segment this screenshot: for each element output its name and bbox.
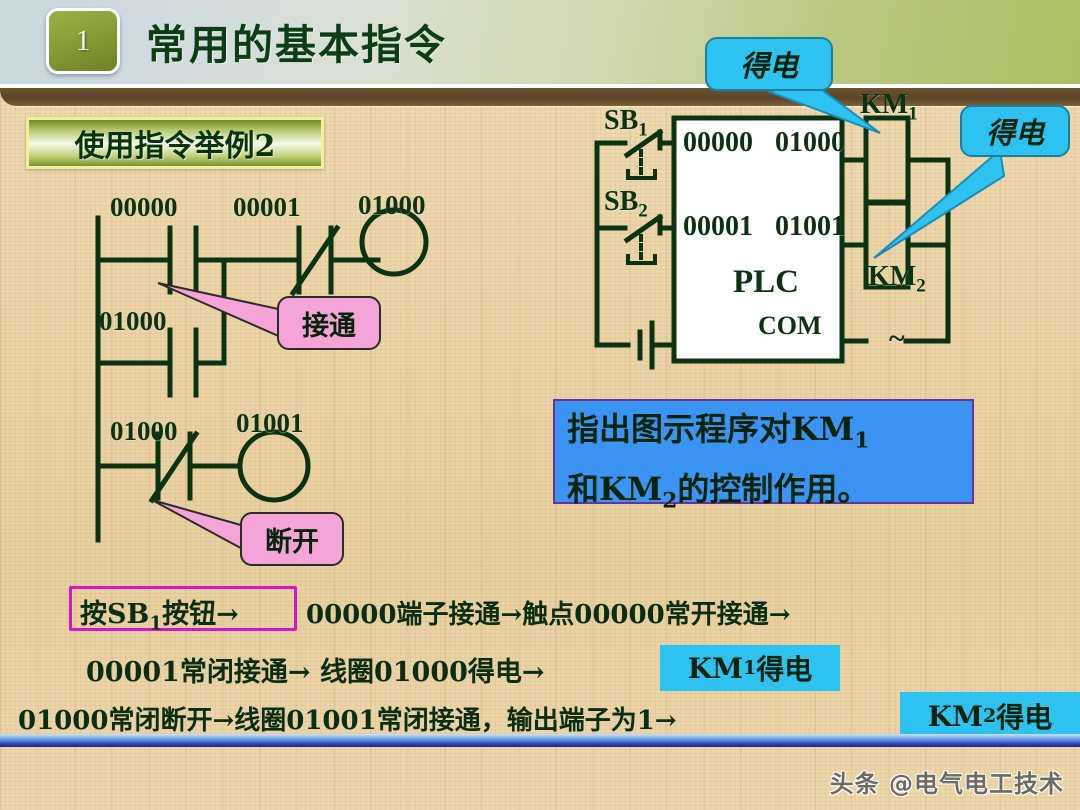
section-number-badge: 1 (46, 8, 120, 74)
plc-ac-symbol: ~ (889, 322, 905, 356)
explanation-line-1-rest: 00000端子接通→触点00000常开接通→ (306, 594, 790, 631)
slide-canvas: 1 常用的基本指令 使用指令举例2 (0, 0, 1080, 810)
ladder-label-branch-01000: 01000 (99, 306, 167, 337)
explanation-step-1: 按SB1按钮→ (80, 592, 239, 634)
question-box: 指出图示程序对KM1 和KM2的控制作用。 (553, 399, 974, 504)
callout-jietong: 接通 (277, 296, 381, 350)
ladder-label-coil-01001: 01001 (236, 408, 304, 439)
header-underbar (0, 88, 1080, 106)
plc-label-sb2: SB2 (604, 186, 648, 223)
plc-label-km1: KM1 (860, 89, 918, 126)
plc-terminal-01001: 01001 (775, 211, 845, 243)
ladder-label-coil-01000: 01000 (358, 190, 426, 221)
km2-energized-tag: KM2得电 (900, 692, 1080, 740)
ladder-label-00001: 00001 (233, 192, 301, 223)
km1-energized-tag: KM1得电 (660, 645, 840, 691)
plc-terminal-00001: 00001 (683, 211, 753, 243)
footer-divider-bar (0, 734, 1080, 747)
slide-header: 1 常用的基本指令 (0, 0, 1080, 88)
example-label-plaque: 使用指令举例2 (26, 117, 324, 169)
callout-dedian-km1: 得电 (705, 37, 833, 91)
question-line-1: 指出图示程序对KM1 (567, 405, 962, 465)
ladder-label-rung2-01000: 01000 (110, 416, 178, 447)
plc-com-label: COM (758, 311, 822, 341)
callout-dedian-km2: 得电 (960, 105, 1070, 157)
page-title: 常用的基本指令 (146, 8, 447, 74)
question-line-2: 和KM2的控制作用。 (567, 465, 962, 525)
plc-terminal-01000: 01000 (775, 127, 845, 159)
callout-duankai: 断开 (240, 512, 344, 566)
ladder-label-00000: 00000 (110, 192, 178, 223)
plc-terminal-00000: 00000 (683, 127, 753, 159)
explanation-line-2: 00001常闭接通→ 线圈01000得电→ (86, 650, 545, 689)
plc-label-sb1: SB1 (604, 105, 648, 142)
explanation-line-3: 01000常闭断开→线圈01001常闭接通，输出端子为1→ (18, 700, 677, 737)
plc-label-km2: KM2 (868, 261, 926, 298)
watermark: 头条 @电气电工技术 (830, 764, 1064, 799)
plc-box-label: PLC (733, 264, 799, 301)
